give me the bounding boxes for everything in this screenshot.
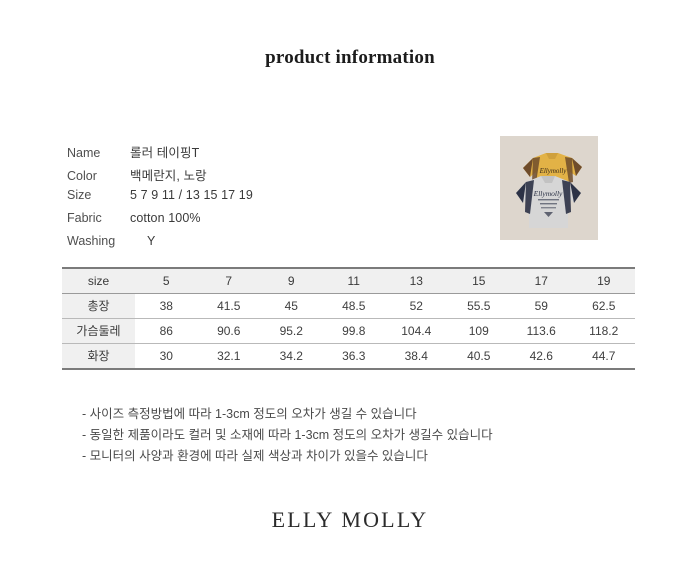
size-table-container: size 5 7 9 11 13 15 17 19 총장 38 41.5 45 xyxy=(62,267,635,370)
table-cell: 104.4 xyxy=(385,319,448,344)
table-cell: 40.5 xyxy=(448,344,511,370)
spec-label-name: Name xyxy=(67,146,130,160)
spec-label-washing: Washing xyxy=(67,234,130,248)
table-cell: 55.5 xyxy=(448,294,511,319)
spec-row-size: Size 5 7 9 11 / 13 15 17 19 xyxy=(67,188,467,211)
table-cell: 30 xyxy=(135,344,198,370)
spec-label-size: Size xyxy=(67,188,130,202)
table-row: 총장 38 41.5 45 48.5 52 55.5 59 62.5 xyxy=(62,294,635,319)
spec-row-washing: Washing Y xyxy=(67,234,467,257)
spec-value-name: 롤러 테이핑T xyxy=(130,142,199,161)
table-cell: 34.2 xyxy=(260,344,323,370)
table-cell: 41.5 xyxy=(198,294,261,319)
product-photo: Ellymolly Ellymolly xyxy=(500,136,598,240)
page-title: product information xyxy=(0,47,700,69)
spec-value-washing: Y xyxy=(130,234,155,248)
size-table-header-11: 11 xyxy=(323,268,386,294)
spec-row-color: Color 백메란지, 노랑 xyxy=(67,165,467,188)
size-table-rowlabel-chest: 가슴둘레 xyxy=(62,319,135,344)
table-cell: 38 xyxy=(135,294,198,319)
disclaimer-notes: - 사이즈 측정방법에 따라 1-3cm 정도의 오차가 생길 수 있습니다 -… xyxy=(82,404,602,467)
table-cell: 42.6 xyxy=(510,344,573,370)
product-information-page: product information Name 롤러 테이핑T Color 백… xyxy=(0,0,700,579)
note-line: - 모니터의 사양과 환경에 따라 실제 색상과 차이가 있을수 있습니다 xyxy=(82,446,602,467)
spec-value-fabric: cotton 100% xyxy=(130,211,201,225)
note-line: - 사이즈 측정방법에 따라 1-3cm 정도의 오차가 생길 수 있습니다 xyxy=(82,404,602,425)
size-table-header-9: 9 xyxy=(260,268,323,294)
table-cell: 36.3 xyxy=(323,344,386,370)
table-cell: 99.8 xyxy=(323,319,386,344)
size-table-header-17: 17 xyxy=(510,268,573,294)
size-table-header-size: size xyxy=(62,268,135,294)
table-cell: 62.5 xyxy=(573,294,636,319)
table-cell: 38.4 xyxy=(385,344,448,370)
size-table-header-19: 19 xyxy=(573,268,636,294)
spec-label-fabric: Fabric xyxy=(67,211,130,225)
table-row: 가슴둘레 86 90.6 95.2 99.8 104.4 109 113.6 1… xyxy=(62,319,635,344)
svg-text:Ellymolly: Ellymolly xyxy=(533,189,563,198)
table-cell: 86 xyxy=(135,319,198,344)
size-table: size 5 7 9 11 13 15 17 19 총장 38 41.5 45 xyxy=(62,267,635,370)
product-spec-list: Name 롤러 테이핑T Color 백메란지, 노랑 Size 5 7 9 1… xyxy=(67,142,467,257)
size-table-header-row: size 5 7 9 11 13 15 17 19 xyxy=(62,268,635,294)
table-cell: 90.6 xyxy=(198,319,261,344)
spec-value-size: 5 7 9 11 / 13 15 17 19 xyxy=(130,188,253,202)
table-cell: 32.1 xyxy=(198,344,261,370)
size-table-header-15: 15 xyxy=(448,268,511,294)
table-cell: 59 xyxy=(510,294,573,319)
table-cell: 52 xyxy=(385,294,448,319)
table-cell: 95.2 xyxy=(260,319,323,344)
spec-row-name: Name 롤러 테이핑T xyxy=(67,142,467,165)
brand-footer: ELLY MOLLY xyxy=(0,507,700,533)
table-row: 화장 30 32.1 34.2 36.3 38.4 40.5 42.6 44.7 xyxy=(62,344,635,370)
table-cell: 109 xyxy=(448,319,511,344)
table-cell: 45 xyxy=(260,294,323,319)
size-table-rowlabel-sleeve: 화장 xyxy=(62,344,135,370)
spec-label-color: Color xyxy=(67,169,130,183)
table-cell: 48.5 xyxy=(323,294,386,319)
table-cell: 44.7 xyxy=(573,344,636,370)
note-line: - 동일한 제품이라도 컬러 및 소재에 따라 1-3cm 정도의 오차가 생길… xyxy=(82,425,602,446)
size-table-header-13: 13 xyxy=(385,268,448,294)
svg-text:Ellymolly: Ellymolly xyxy=(539,167,568,175)
size-table-header-5: 5 xyxy=(135,268,198,294)
product-photo-illustration: Ellymolly Ellymolly xyxy=(500,136,598,240)
table-cell: 113.6 xyxy=(510,319,573,344)
spec-value-color: 백메란지, 노랑 xyxy=(130,165,207,184)
table-cell: 118.2 xyxy=(573,319,636,344)
spec-row-fabric: Fabric cotton 100% xyxy=(67,211,467,234)
size-table-header-7: 7 xyxy=(198,268,261,294)
size-table-rowlabel-length: 총장 xyxy=(62,294,135,319)
